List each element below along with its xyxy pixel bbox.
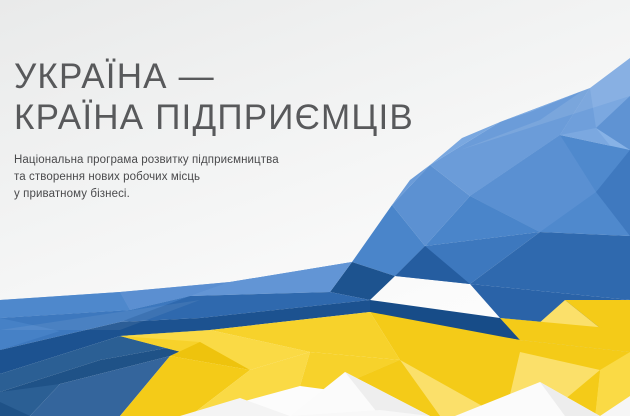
subhead-line-1: Національна програма розвитку підприємни… [14, 152, 444, 169]
banner-root: УКРАЇНА — КРАЇНА ПІДПРИЄМЦІВ Національна… [0, 0, 630, 416]
subhead-line-2: та створення нових робочих місць [14, 169, 444, 186]
blue-ridge-face-right [190, 262, 352, 296]
subhead-line-3: у приватному бізнесі. [14, 186, 444, 203]
subhead-block: Національна програма розвитку підприємни… [14, 152, 444, 203]
text-block: УКРАЇНА — КРАЇНА ПІДПРИЄМЦІВ Національна… [14, 56, 444, 203]
headline-line-1: УКРАЇНА — [14, 56, 444, 97]
headline-line-2: КРАЇНА ПІДПРИЄМЦІВ [14, 97, 444, 138]
